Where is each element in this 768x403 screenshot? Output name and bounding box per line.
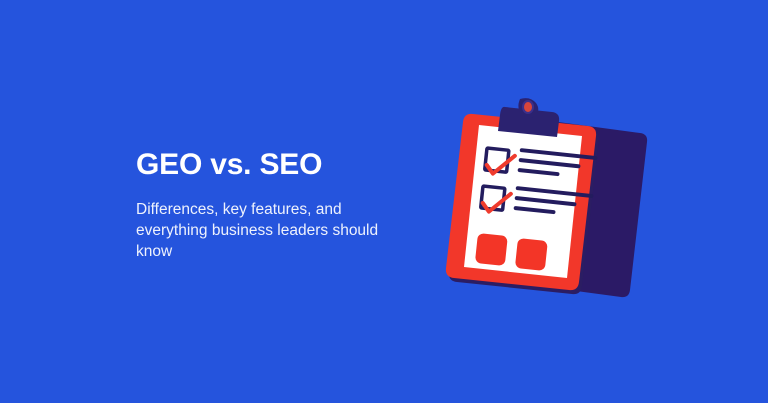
page-subtitle: Differences, key features, and everythin…	[136, 182, 404, 262]
clipboard-clip	[498, 98, 559, 137]
page-title: GEO vs. SEO	[136, 148, 436, 182]
hero-text-block: GEO vs. SEO Differences, key features, a…	[136, 148, 436, 262]
red-tile-left	[475, 233, 508, 266]
red-tile-right	[515, 238, 548, 271]
hero-banner: GEO vs. SEO Differences, key features, a…	[0, 0, 768, 403]
checklist-clipboard-illustration	[440, 88, 670, 308]
